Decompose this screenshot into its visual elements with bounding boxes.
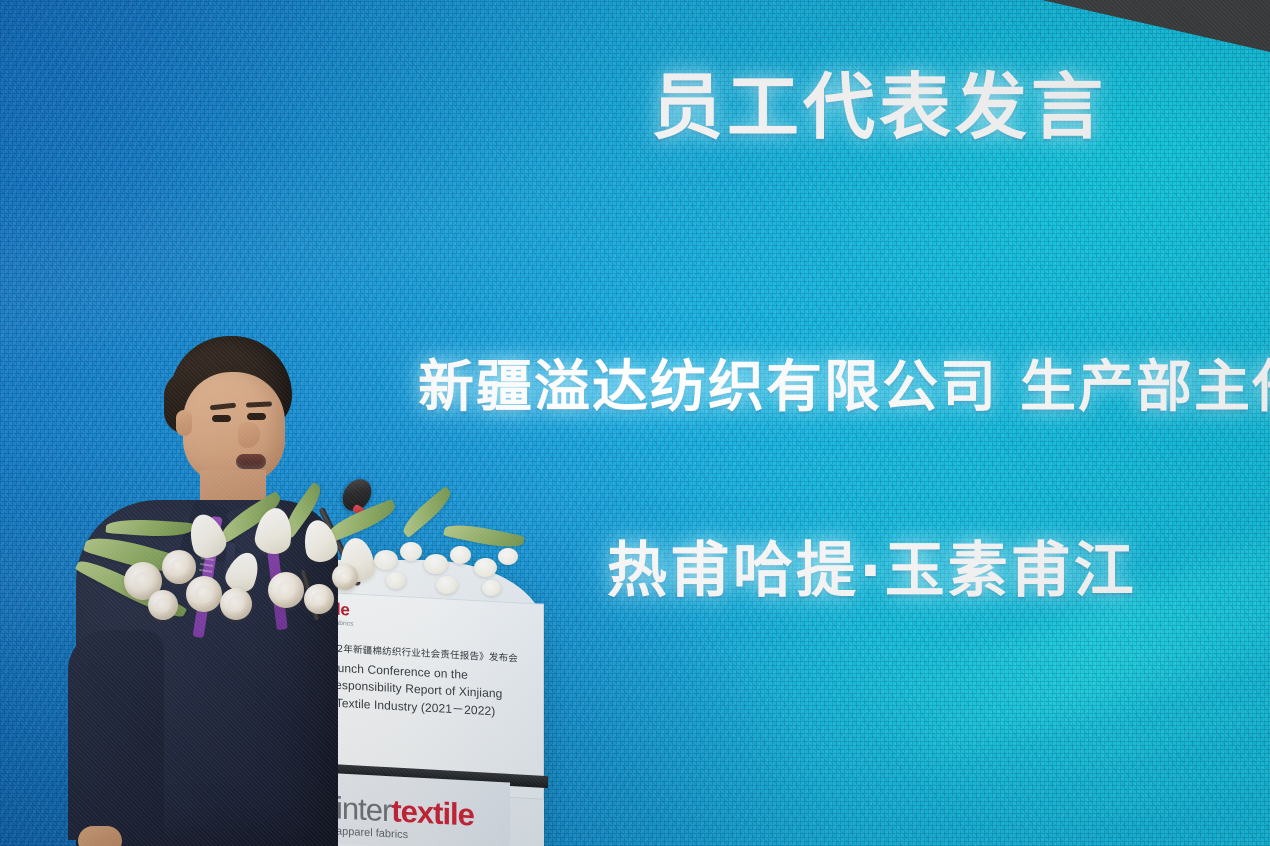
hand: [78, 826, 122, 846]
leaf: [106, 517, 193, 539]
orchid-flower: [482, 580, 501, 596]
stage-photo: 员工代表发言 新疆溢达纺织有限公司生产部主任 热甫哈提·玉素甫江 interte…: [0, 0, 1270, 846]
logo-large-word-textile: textile: [391, 793, 474, 832]
rose-flower: [268, 572, 304, 608]
orchid-flower: [474, 558, 497, 577]
orchid-flower: [400, 542, 422, 561]
rose-flower: [220, 588, 252, 620]
orchid-flower: [386, 572, 406, 589]
orchid-flower: [498, 548, 518, 565]
rose-flower: [162, 550, 196, 584]
rose-flower: [332, 564, 358, 590]
rose-flower: [304, 584, 334, 614]
rose-flower: [186, 576, 222, 612]
face: [183, 372, 285, 484]
rose-flower: [148, 590, 178, 620]
lily-flower: [300, 517, 340, 565]
flower-arrangement: [78, 498, 548, 648]
eye-right: [247, 413, 266, 420]
eye-left: [212, 415, 231, 422]
orchid-flower: [424, 554, 448, 574]
orchid-flower: [374, 550, 398, 570]
orchid-flower: [436, 576, 458, 594]
arm-left: [68, 630, 164, 840]
mouth: [236, 454, 266, 469]
ear: [176, 410, 192, 436]
orchid-flower: [450, 546, 471, 564]
